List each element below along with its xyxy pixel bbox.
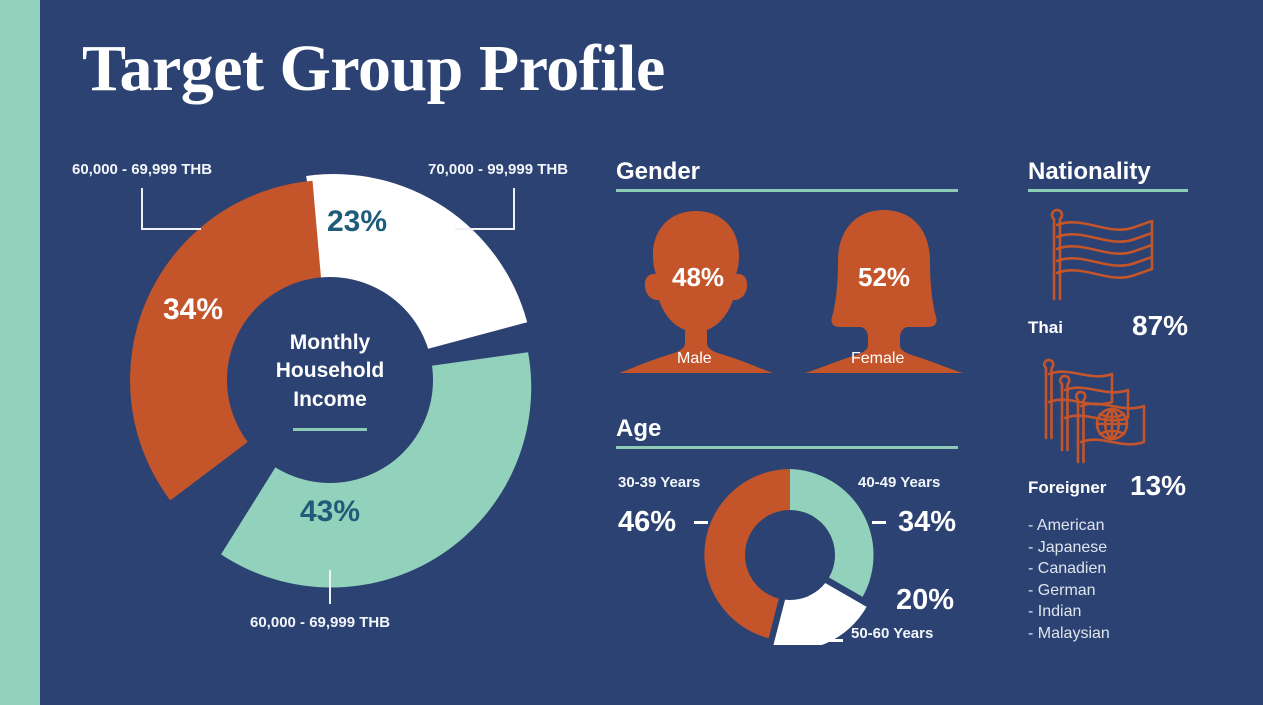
gender-heading-rule — [616, 189, 958, 192]
age-label-40-49: 40-49 Years — [858, 474, 940, 491]
income-bracket-right — [455, 188, 515, 230]
age-heading-rule — [616, 446, 958, 449]
thai-label: Thai — [1028, 318, 1063, 338]
list-item: - Malaysian — [1028, 623, 1110, 645]
male-percentage: 48% — [672, 262, 724, 293]
male-label: Male — [677, 350, 712, 368]
foreigner-percentage: 13% — [1130, 470, 1186, 502]
income-pct-43: 43% — [300, 495, 360, 529]
left-accent-stripe — [0, 0, 40, 705]
thai-flag-icon — [1040, 207, 1170, 302]
income-pct-23: 23% — [327, 205, 387, 239]
list-item: - Indian — [1028, 601, 1110, 623]
list-item: - Canadien — [1028, 558, 1110, 580]
nationality-heading: Nationality — [1028, 158, 1151, 186]
age-label-50-60: 50-60 Years — [851, 625, 933, 642]
income-bracket-left — [141, 188, 201, 230]
page-title: Target Group Profile — [82, 36, 665, 102]
age-donut-hole — [745, 510, 835, 600]
age-leader-left — [694, 521, 708, 524]
age-leader-right — [872, 521, 886, 524]
foreigner-nationality-list: - American - Japanese - Canadien - Germa… — [1028, 515, 1110, 644]
age-pct-40-49: 34% — [898, 506, 956, 539]
list-item: - Japanese — [1028, 537, 1110, 559]
income-label-left: 60,000 - 69,999 THB — [72, 161, 212, 178]
age-label-30-39: 30-39 Years — [618, 474, 700, 491]
female-label: Female — [851, 350, 904, 368]
income-label-bottom: 60,000 - 69,999 THB — [250, 614, 390, 631]
income-bracket-bottom — [329, 570, 331, 604]
foreigner-label: Foreigner — [1028, 478, 1106, 498]
nationality-heading-rule — [1028, 189, 1188, 192]
income-donut-hole — [227, 277, 433, 483]
age-heading: Age — [616, 415, 661, 443]
age-leader-bottom — [827, 639, 843, 642]
income-label-right: 70,000 - 99,999 THB — [428, 161, 568, 178]
thai-percentage: 87% — [1132, 310, 1188, 342]
infographic-canvas: Target Group Profile Monthly Household I… — [0, 0, 1263, 705]
age-pct-50-60: 20% — [896, 584, 954, 617]
list-item: - American — [1028, 515, 1110, 537]
age-donut-chart — [700, 465, 880, 645]
income-pct-34: 34% — [163, 293, 223, 327]
female-percentage: 52% — [858, 262, 910, 293]
age-pct-30-39: 46% — [618, 506, 676, 539]
age-donut-svg — [700, 465, 880, 645]
gender-heading: Gender — [616, 158, 700, 186]
list-item: - German — [1028, 580, 1110, 602]
foreigner-flags-icon — [1040, 358, 1170, 468]
